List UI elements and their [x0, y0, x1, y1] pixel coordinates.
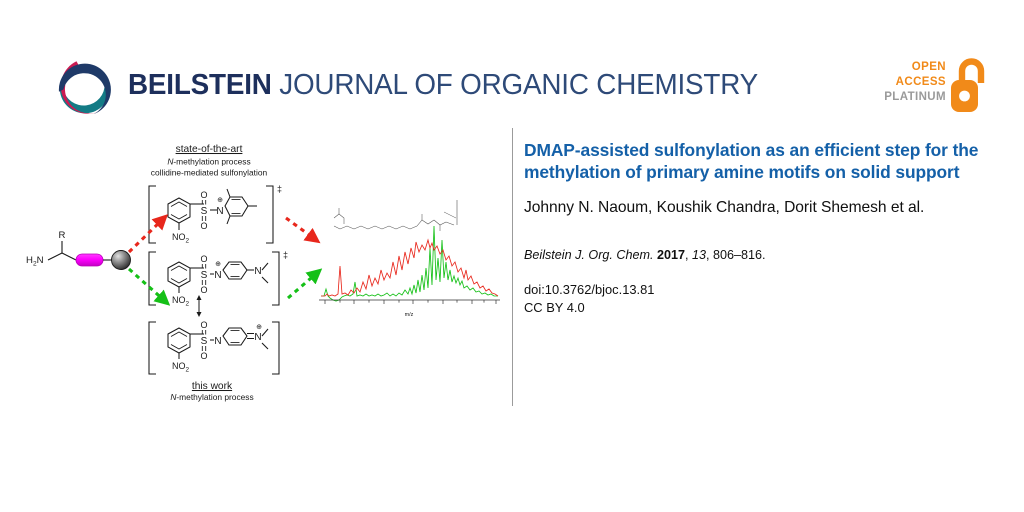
open-access-line-platinum: PLATINUM: [884, 90, 946, 105]
spectrum-x-ticks: [325, 300, 496, 304]
top-caption: state-of-the-art N-methylation process c…: [151, 144, 268, 178]
article-citation: Beilstein J. Org. Chem. 2017, 13, 806–81…: [524, 247, 980, 264]
top-sulfur-label: S: [201, 206, 208, 217]
open-access-line-access: ACCESS: [884, 75, 946, 90]
journal-header: BEILSTEIN JOURNAL OF ORGANIC CHEMISTRY O…: [0, 0, 1024, 128]
spectrum-x-axis-label: m/z: [405, 312, 414, 318]
mid-plus-charge: ⊕: [215, 261, 221, 268]
top-caption-line1b: -methylation process: [173, 157, 250, 167]
structure-this-work-b: NO2 S O O N N ⊕: [149, 320, 279, 374]
bot-nitro-label: NO2: [172, 361, 190, 374]
top-caption-heading: state-of-the-art: [176, 144, 243, 155]
citation-comma-1: ,: [685, 248, 689, 262]
mid-nitrogen-label: N: [214, 270, 221, 281]
spectrum-trace-red: [321, 240, 498, 296]
graphical-abstract: state-of-the-art N-methylation process c…: [16, 130, 502, 402]
bottom-caption-line1: N-methylation process: [170, 392, 253, 402]
bottom-caption-heading: this work: [192, 381, 233, 392]
bot-amine-nitrogen: N: [254, 332, 261, 343]
bot-plus-charge: ⊕: [256, 324, 262, 331]
top-nitrogen-label: N: [216, 206, 223, 217]
column-divider: [512, 128, 513, 406]
article-license[interactable]: CC BY 4.0: [524, 299, 980, 317]
r-group-label: R: [59, 230, 66, 241]
top-nitro-label: NO2: [172, 232, 190, 245]
open-padlock-icon: [950, 58, 988, 114]
citation-year: 2017: [657, 248, 685, 262]
structure-state-of-the-art: ‡ NO2 S O O N ⊕: [149, 184, 282, 245]
wordmark-regular: JOURNAL OF ORGANIC CHEMISTRY: [272, 69, 758, 101]
arrow-state-of-the-art: [129, 218, 316, 252]
citation-journal: Beilstein J. Org. Chem.: [524, 248, 653, 262]
article-doi[interactable]: doi:10.3762/bjoc.13.81: [524, 281, 980, 299]
citation-pages: 806–816.: [713, 248, 766, 262]
citation-volume: 13: [692, 248, 706, 262]
spectrum-trace-green: [321, 226, 498, 301]
resin-linker: [76, 254, 112, 266]
spectrum-leader-line-2: [446, 222, 454, 225]
journal-wordmark: BEILSTEIN JOURNAL OF ORGANIC CHEMISTRY: [128, 69, 758, 102]
top-dagger: ‡: [277, 184, 282, 194]
amine-label: H2N: [26, 255, 44, 268]
top-caption-line2: collidine-mediated sulfonylation: [151, 168, 268, 178]
article-authors: Johnny N. Naoum, Koushik Chandra, Dorit …: [524, 197, 980, 218]
bot-sulfur-label: S: [201, 336, 208, 347]
solid-support-bead-icon: [112, 251, 131, 270]
top-caption-line1: N-methylation process: [167, 157, 250, 167]
bot-nitrogen-label: N: [214, 336, 221, 347]
article-info-panel: DMAP-assisted sulfonylation as an effici…: [524, 140, 980, 316]
top-oxygen-down: O: [200, 221, 207, 231]
bot-oxygen-down: O: [200, 351, 207, 361]
reactant-amine-on-resin: H2N R: [26, 230, 76, 268]
bottom-caption: this work N-methylation process: [170, 381, 253, 402]
structure-this-work-a: ‡ NO2 S O O N ⊕: [149, 250, 288, 308]
wordmark-bold: BEILSTEIN: [128, 69, 272, 101]
open-access-text: OPEN ACCESS PLATINUM: [884, 60, 946, 105]
spectrum-leader-line-3: [444, 212, 456, 218]
top-plus-charge: ⊕: [217, 197, 223, 204]
mid-sulfur-label: S: [201, 270, 208, 281]
top-oxygen-up: O: [200, 190, 207, 200]
beilstein-logo-icon: [52, 56, 116, 120]
article-title[interactable]: DMAP-assisted sulfonylation as an effici…: [524, 140, 980, 183]
mid-nitro-label: NO2: [172, 295, 190, 308]
open-access-line-open: OPEN: [884, 60, 946, 75]
mid-oxygen-down: O: [200, 285, 207, 295]
citation-comma-2: ,: [706, 248, 710, 262]
article-doi-block: doi:10.3762/bjoc.13.81 CC BY 4.0: [524, 281, 980, 316]
spectrum-inset-structure: [334, 208, 446, 231]
journal-cover-page: BEILSTEIN JOURNAL OF ORGANIC CHEMISTRY O…: [0, 0, 1024, 512]
mid-oxygen-up: O: [200, 254, 207, 264]
mass-spectrum-chart: m/z: [319, 200, 500, 318]
mid-amine-nitrogen: N: [254, 266, 261, 277]
open-access-badge: OPEN ACCESS PLATINUM: [884, 58, 988, 120]
bot-oxygen-up: O: [200, 320, 207, 330]
arrow-this-work: [129, 269, 318, 302]
mid-dagger: ‡: [283, 250, 288, 260]
bottom-caption-line1b: -methylation process: [176, 392, 253, 402]
